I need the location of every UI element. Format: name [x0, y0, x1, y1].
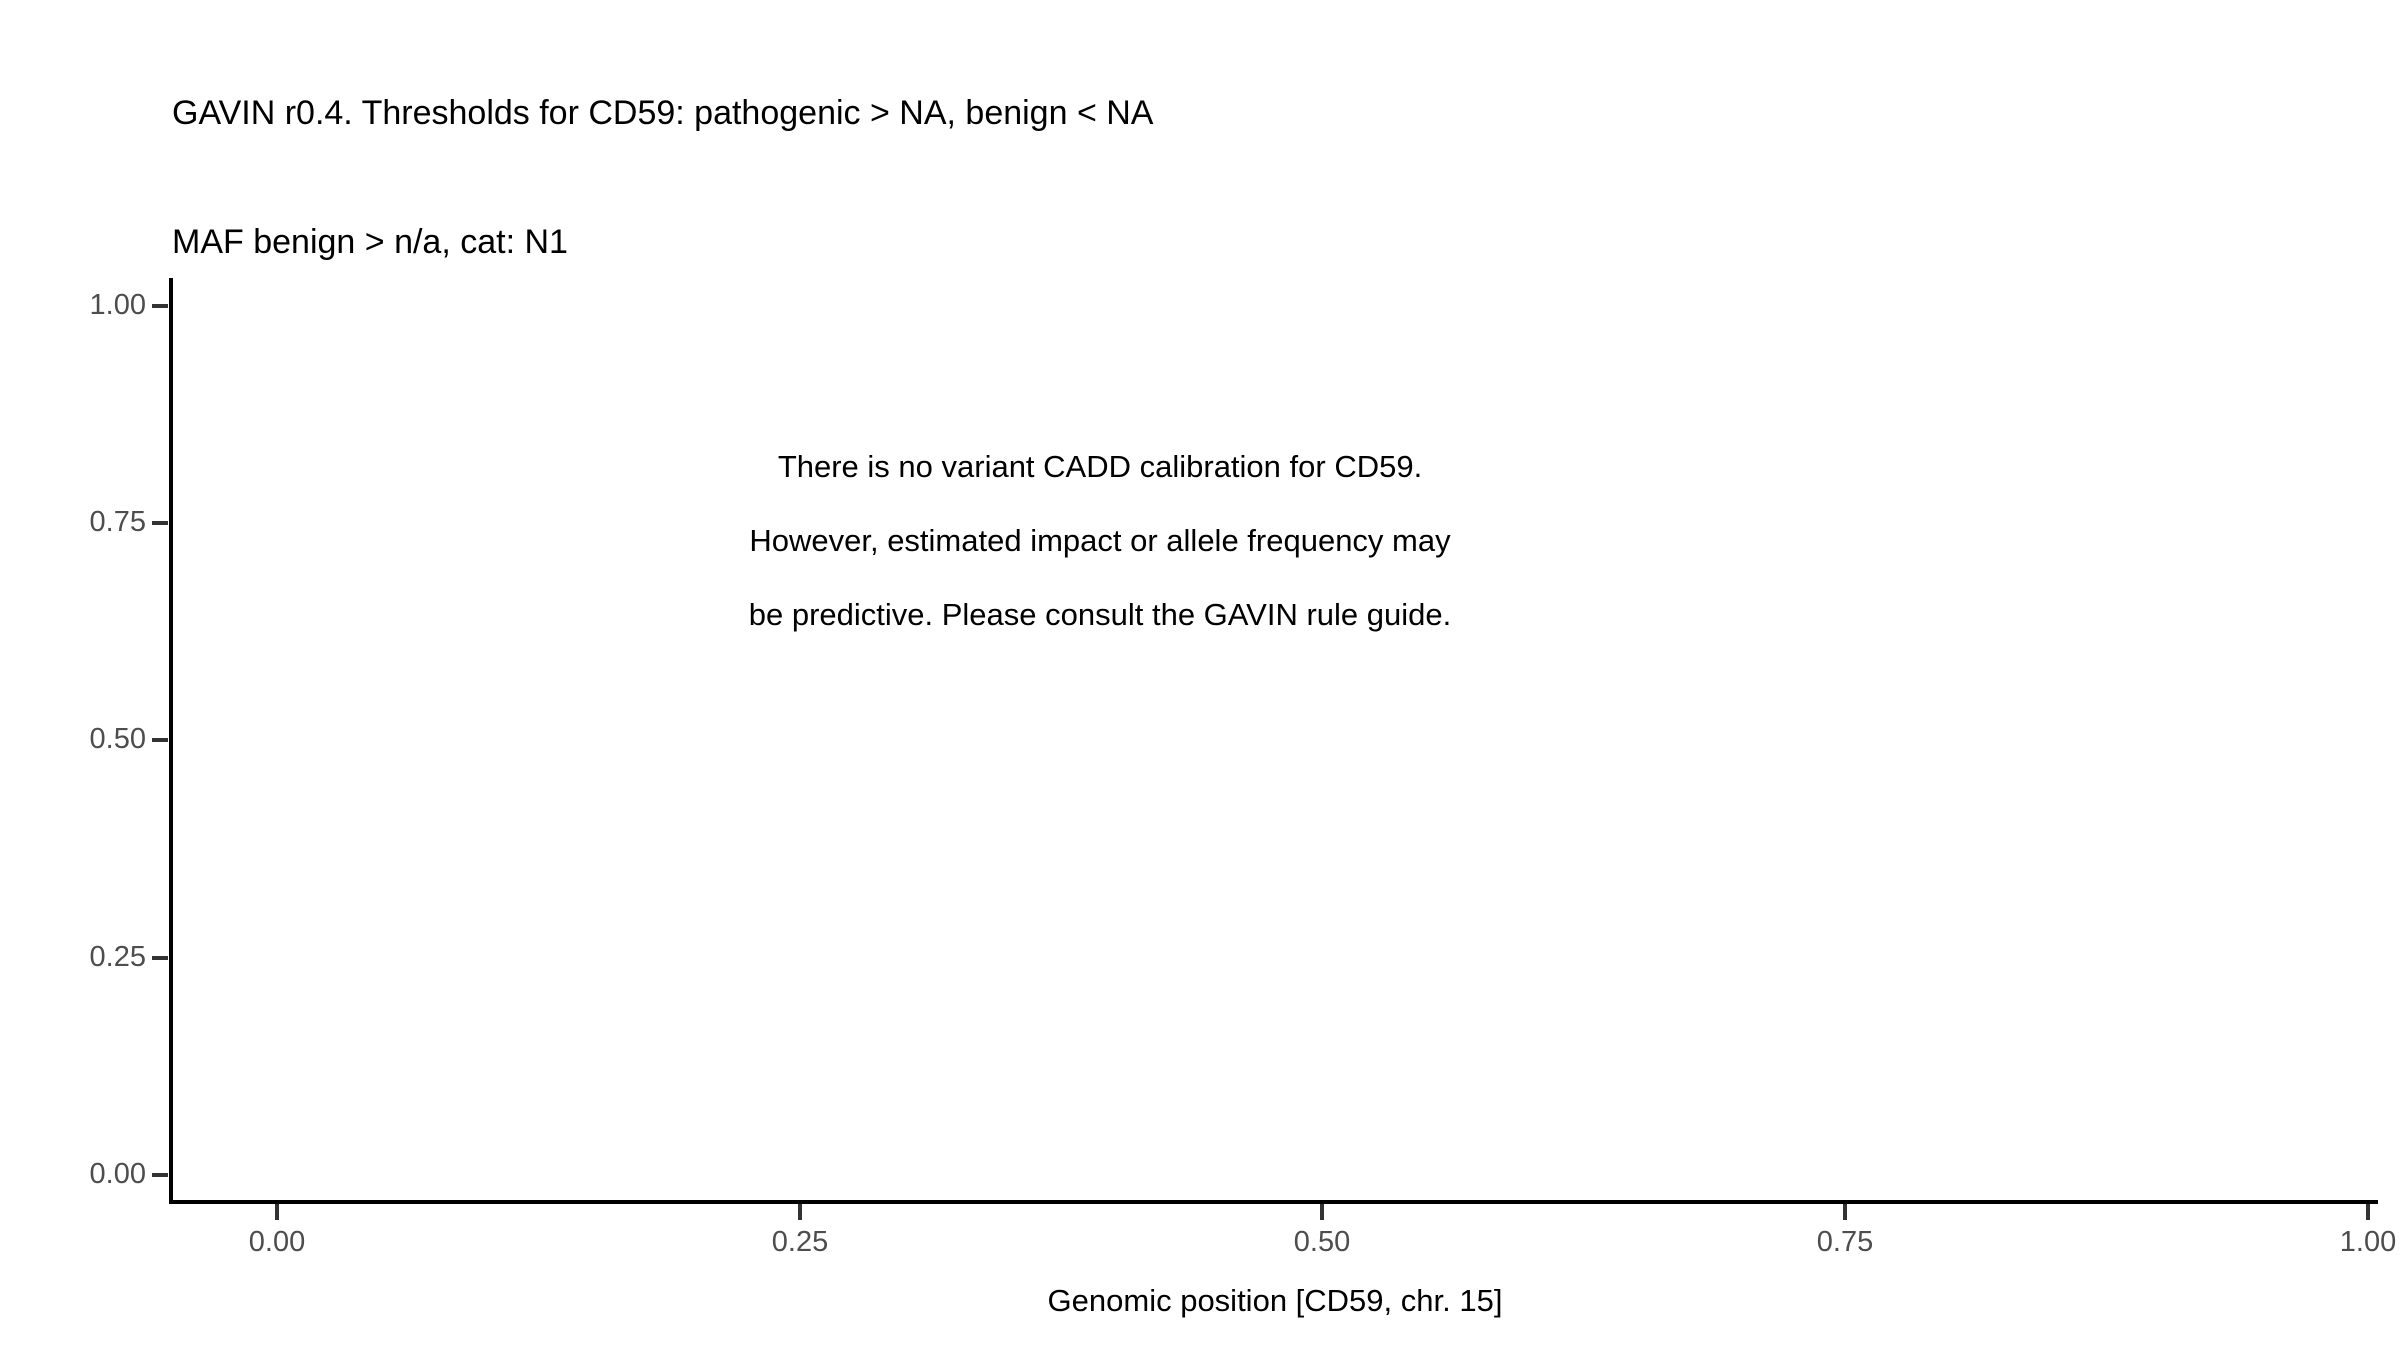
chart-title-line-1: GAVIN r0.4. Thresholds for CD59: pathoge…: [172, 92, 2172, 135]
no-calibration-message-line-2: However, estimated impact or allele freq…: [320, 504, 1880, 578]
y-axis-tick-label: 0.25: [90, 941, 146, 974]
x-axis-tick-label: 0.25: [700, 1226, 900, 1259]
x-axis-tick-label: 1.00: [2268, 1226, 2400, 1259]
x-axis-line: [169, 1200, 2378, 1204]
x-axis-tick-mark: [1843, 1204, 1847, 1220]
x-axis-tick-mark: [1320, 1204, 1324, 1220]
y-axis-tick-mark: [152, 304, 168, 308]
y-axis-tick-mark: [152, 1173, 168, 1177]
y-axis-tick-label: 0.50: [90, 723, 146, 756]
chart-title-line-2: MAF benign > n/a, cat: N1: [172, 221, 2172, 264]
no-calibration-message: There is no variant CADD calibration for…: [320, 430, 1880, 652]
y-axis-tick-label: 1.00: [90, 289, 146, 322]
x-axis-tick-label: 0.75: [1745, 1226, 1945, 1259]
x-axis-tick-mark: [275, 1204, 279, 1220]
y-axis-tick-mark: [152, 738, 168, 742]
x-axis-tick-mark: [798, 1204, 802, 1220]
plot-panel: [172, 278, 2378, 1202]
x-axis-tick-mark: [2366, 1204, 2370, 1220]
y-axis-line: [169, 278, 173, 1204]
x-axis-title: Genomic position [CD59, chr. 15]: [172, 1283, 2378, 1319]
no-calibration-message-line-1: There is no variant CADD calibration for…: [320, 430, 1880, 504]
y-axis-tick-label: 0.75: [90, 506, 146, 539]
y-axis-tick-label: 0.00: [90, 1158, 146, 1191]
x-axis-tick-label: 0.50: [1222, 1226, 1422, 1259]
no-calibration-message-line-3: be predictive. Please consult the GAVIN …: [320, 578, 1880, 652]
y-axis-tick-mark: [152, 521, 168, 525]
y-axis-tick-mark: [152, 956, 168, 960]
x-axis-tick-label: 0.00: [177, 1226, 377, 1259]
